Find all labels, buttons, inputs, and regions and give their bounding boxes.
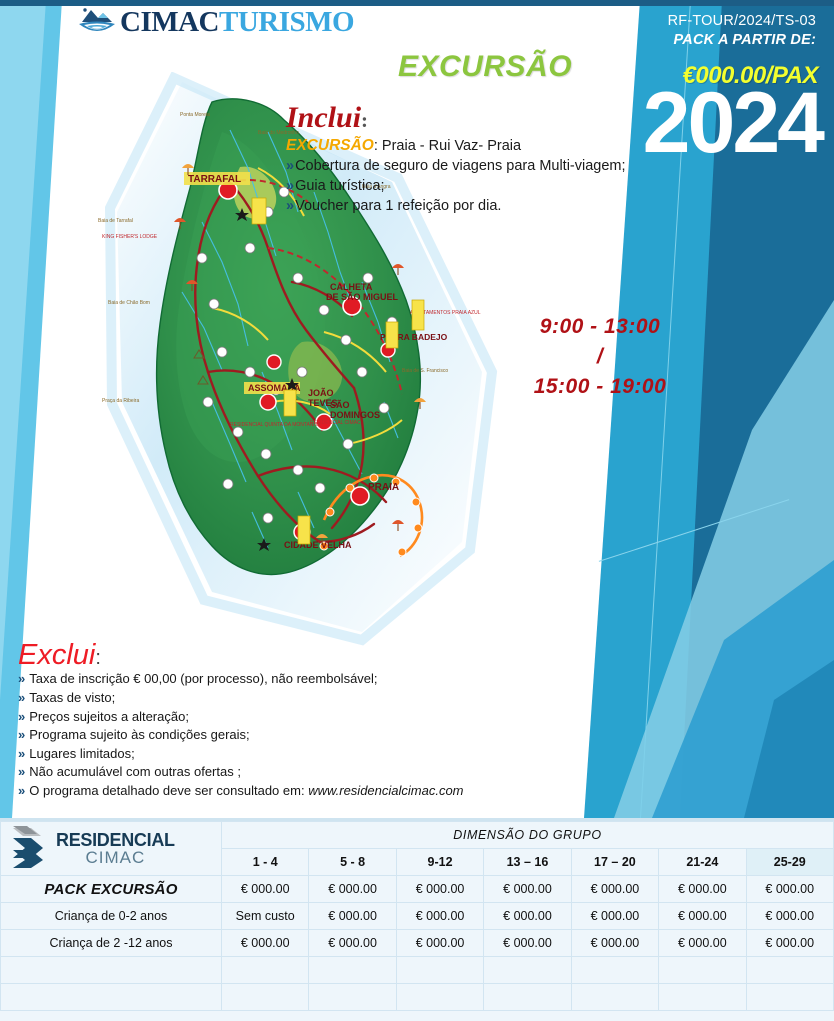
excludes-item: »Não acumulável com outras ofertas ; <box>18 763 578 782</box>
svg-text:DOMINGOS: DOMINGOS <box>330 410 380 420</box>
pack-from-label: PACK A PARTIR DE: <box>668 31 816 50</box>
svg-text:DE SÃO MIGUEL: DE SÃO MIGUEL <box>326 292 399 302</box>
svg-text:CIDADE VELHA: CIDADE VELHA <box>284 540 352 550</box>
chevron-bullet-icon: » <box>18 746 29 761</box>
column-header-21-24: 21-24 <box>659 849 746 876</box>
excludes-item: »Lugares limitados; <box>18 745 578 764</box>
chevron-bullet-icon: » <box>286 178 295 194</box>
schedule-block: 9:00 - 13:00 / 15:00 - 19:00 <box>505 312 695 402</box>
price-cell: € 000.00 <box>484 903 571 930</box>
includes-section: Inclui: EXCURSÃO: Praia - Rui Vaz- Praia… <box>286 103 666 216</box>
price-cell: € 000.00 <box>659 876 746 903</box>
row-label-crianca-2-12: Criança de 2 -12 anos <box>1 930 222 957</box>
chevron-bullet-icon: » <box>18 764 29 779</box>
schedule-separator: / <box>505 342 695 372</box>
svg-text:Praça da Ribeira: Praça da Ribeira <box>102 398 139 404</box>
chevron-bullet-icon: » <box>18 690 29 705</box>
excludes-item: »Taxa de inscrição € 00,00 (por processo… <box>18 670 578 689</box>
table-row: Criança de 2 -12 anos € 000.00 € 000.00 … <box>1 930 834 957</box>
svg-text:TARRAFAL: TARRAFAL <box>188 174 241 185</box>
row-label-crianca-0-2: Criança de 0-2 anos <box>1 903 222 930</box>
price-cell: € 000.00 <box>222 876 309 903</box>
excludes-item-website: »O programa detalhado deve ser consultad… <box>18 782 578 801</box>
table-footer-row <box>1 957 834 984</box>
excludes-item: »Preços sujeitos a alteração; <box>18 708 578 727</box>
chevron-bullet-icon: » <box>286 158 295 174</box>
column-header-25-29: 25-29 <box>746 849 833 876</box>
price-cell: € 000.00 <box>746 903 833 930</box>
svg-text:PRAIA: PRAIA <box>368 482 399 493</box>
includes-item: »Guia turística; <box>286 176 666 196</box>
chevron-bullet-icon: » <box>18 709 29 724</box>
includes-item: »Voucher para 1 refeição por dia. <box>286 196 666 216</box>
includes-route-value: : Praia - Rui Vaz- Praia <box>374 138 521 154</box>
excludes-item: »Taxas de visto; <box>18 689 578 708</box>
excludes-heading: Exclui: <box>18 640 578 670</box>
svg-text:Ponta Moreia: Ponta Moreia <box>180 112 210 118</box>
price-cell: € 000.00 <box>396 876 483 903</box>
price-cell: € 000.00 <box>659 903 746 930</box>
table-header-row-1: RESIDENCIAL CIMAC DIMENSÃO DO GRUPO <box>1 822 834 849</box>
includes-item: »Cobertura de seguro de viagens para Mul… <box>286 156 666 176</box>
excludes-section: Exclui: »Taxa de inscrição € 00,00 (por … <box>18 640 578 801</box>
group-dimension-header: DIMENSÃO DO GRUPO <box>222 822 834 849</box>
price-cell: € 000.00 <box>659 930 746 957</box>
price-cell: € 000.00 <box>309 876 396 903</box>
chevron-stack-icon <box>11 824 51 873</box>
cimac-label: CIMAC <box>56 849 175 866</box>
price-cell: € 000.00 <box>309 930 396 957</box>
price-cell: € 000.00 <box>222 930 309 957</box>
hairline-diagonal-2 <box>599 499 790 562</box>
reference-block: RF-TOUR/2024/TS-03 PACK A PARTIR DE: <box>668 12 816 50</box>
logo-text-main: CIMAC <box>120 6 219 38</box>
svg-text:KING FISHER'S LODGE: KING FISHER'S LODGE <box>102 234 158 240</box>
year-label: 2024 <box>643 80 822 166</box>
excludes-item: »Programa sujeito às condições gerais; <box>18 726 578 745</box>
schedule-afternoon: 15:00 - 19:00 <box>505 372 695 402</box>
price-cell: € 000.00 <box>484 876 571 903</box>
includes-heading: Inclui: <box>286 103 666 133</box>
price-cell: € 000.00 <box>571 876 658 903</box>
website-link[interactable]: www.residencialcimac.com <box>308 783 463 798</box>
chevron-bullet-icon: » <box>286 198 295 214</box>
tour-reference: RF-TOUR/2024/TS-03 <box>668 12 816 31</box>
price-cell: € 000.00 <box>571 930 658 957</box>
includes-route: EXCURSÃO: Praia - Rui Vaz- Praia <box>286 136 666 156</box>
column-header-5-8: 5 - 8 <box>309 849 396 876</box>
table-footer-row-2 <box>1 984 834 1011</box>
schedule-morning: 9:00 - 13:00 <box>505 312 695 342</box>
chevron-bullet-icon: » <box>18 727 29 742</box>
table-row: Criança de 0-2 anos Sem custo € 000.00 €… <box>1 903 834 930</box>
price-cell: € 000.00 <box>746 930 833 957</box>
price-cell: € 000.00 <box>396 930 483 957</box>
price-cell: € 000.00 <box>571 903 658 930</box>
pricing-section: RESIDENCIAL CIMAC DIMENSÃO DO GRUPO 1 - … <box>0 818 834 1021</box>
column-header-17-20: 17 – 20 <box>571 849 658 876</box>
svg-text:RESIDENCIAL QUINTA DA MONTANHA: RESIDENCIAL QUINTA DA MONTANHA <box>230 422 321 428</box>
pricing-table: RESIDENCIAL CIMAC DIMENSÃO DO GRUPO 1 - … <box>0 821 834 1011</box>
residencial-label: RESIDENCIAL <box>56 831 175 849</box>
price-cell: € 000.00 <box>396 903 483 930</box>
residencial-cimac-logo: RESIDENCIAL CIMAC <box>1 822 222 876</box>
svg-text:SÃO: SÃO <box>330 400 350 410</box>
chevron-bullet-icon: » <box>18 671 29 686</box>
cimac-turismo-logo: CIMACTURISMO <box>78 6 354 39</box>
row-label-pack-excursao: PACK EXCURSÃO <box>1 876 222 903</box>
column-header-13-16: 13 – 16 <box>484 849 571 876</box>
column-header-1-4: 1 - 4 <box>222 849 309 876</box>
svg-text:Baia de S. Francisco: Baia de S. Francisco <box>402 368 448 374</box>
table-row: PACK EXCURSÃO € 000.00 € 000.00 € 000.00… <box>1 876 834 903</box>
price-cell: € 000.00 <box>484 930 571 957</box>
svg-text:Baia de Chão Bom: Baia de Chão Bom <box>108 300 150 306</box>
price-cell: Sem custo <box>222 903 309 930</box>
price-cell: € 000.00 <box>746 876 833 903</box>
mountain-wave-icon <box>78 7 116 39</box>
brochure-page: CIMACTURISMO RF-TOUR/2024/TS-03 PACK A P… <box>0 0 834 1021</box>
logo-text-accent: TURISMO <box>219 6 354 38</box>
price-cell: € 000.00 <box>309 903 396 930</box>
includes-route-label: EXCURSÃO <box>286 137 374 154</box>
svg-text:JOÃO: JOÃO <box>308 388 334 398</box>
chevron-bullet-icon: » <box>18 783 29 798</box>
svg-text:Baia de Tarrafal: Baia de Tarrafal <box>98 218 133 224</box>
svg-text:CALHETA: CALHETA <box>330 282 373 292</box>
column-header-9-12: 9-12 <box>396 849 483 876</box>
